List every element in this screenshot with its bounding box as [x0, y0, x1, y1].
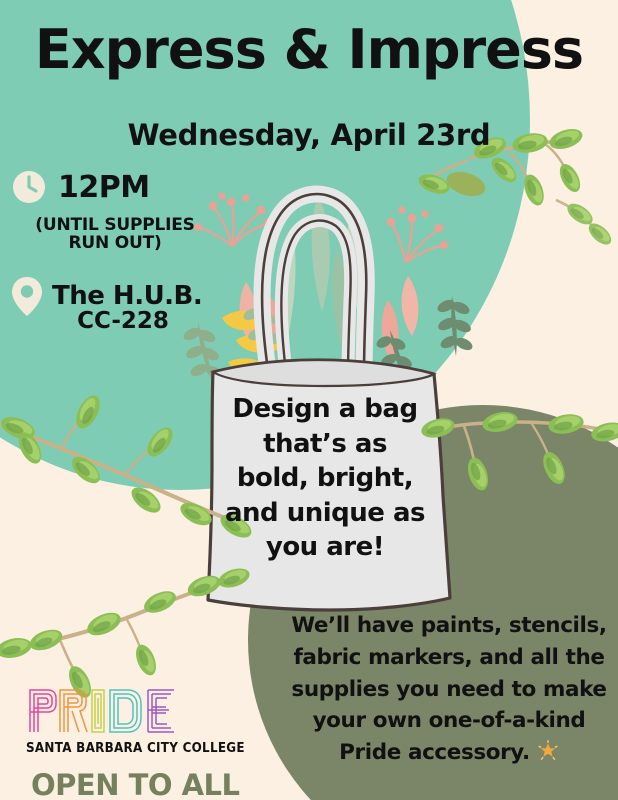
supplies-note: (UNTIL SUPPLIES RUN OUT)	[22, 216, 208, 253]
bag-message-line3: bold, bright,	[215, 461, 435, 496]
supplies-note-line1: (UNTIL SUPPLIES	[22, 216, 208, 234]
college-name: SANTA BARBARA CITY COLLEGE	[26, 741, 245, 756]
sparkle-star-icon	[537, 740, 559, 762]
supplies-message-line3: supplies you need to make	[288, 674, 610, 706]
supplies-message-line1: We’ll have paints, stencils,	[288, 610, 610, 642]
time-value: 12PM	[58, 170, 150, 205]
bag-message-line1: Design a bag	[215, 392, 435, 427]
supplies-message-line4: your own one-of-a-kind	[288, 705, 610, 737]
supplies-message: We’ll have paints, stencils, fabric mark…	[288, 610, 610, 769]
supplies-note-line2: RUN OUT)	[22, 234, 208, 252]
pride-wordmark-icon	[26, 684, 196, 736]
bag-message: Design a bag that’s as bold, bright, and…	[215, 392, 435, 565]
open-to-all-tagline: OPEN TO ALL	[31, 768, 264, 800]
pride-logo: SANTA BARBARA CITY COLLEGE OPEN TO ALL	[26, 684, 264, 800]
supplies-message-line2: fabric markers, and all the	[288, 642, 610, 674]
location-room: CC-228	[38, 308, 208, 334]
supplies-message-line5: Pride accessory.	[288, 737, 610, 769]
time-row: 12PM	[10, 168, 150, 206]
location-venue: The H.U.B.	[52, 281, 202, 311]
bag-message-line5: you are!	[215, 530, 435, 565]
poster-title: Express & Impress	[0, 22, 618, 79]
clock-icon	[10, 168, 48, 206]
poster-canvas: Express & Impress Wednesday, April 23rd …	[0, 0, 618, 800]
poster-date: Wednesday, April 23rd	[84, 118, 534, 152]
bag-message-line2: that’s as	[215, 427, 435, 462]
supplies-message-line5-text: Pride accessory.	[339, 740, 530, 765]
bag-message-line4: and unique as	[215, 496, 435, 531]
